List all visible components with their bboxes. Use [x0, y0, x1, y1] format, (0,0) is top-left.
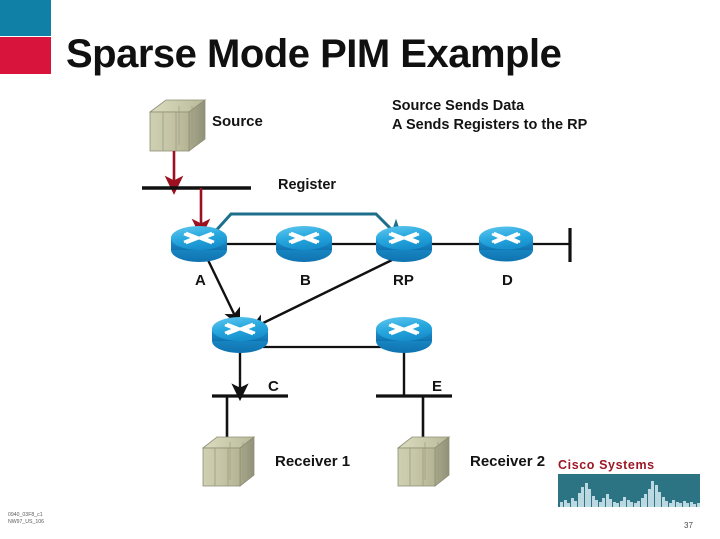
- label-source: Source: [212, 113, 263, 130]
- router-A[interactable]: [171, 226, 227, 262]
- arrow-rp-to-c: [257, 260, 392, 326]
- router-D[interactable]: [479, 227, 533, 262]
- page-number: 37: [684, 521, 693, 530]
- router-C[interactable]: [212, 317, 268, 353]
- cisco-wordmark: Cisco Systems: [558, 458, 706, 472]
- host-receiver-1: [203, 437, 254, 486]
- router-B[interactable]: [276, 226, 332, 262]
- footer-line-1: 0940_03F8_c1: [8, 512, 44, 519]
- cisco-bridge-graphic: [558, 474, 700, 507]
- label-receiver-1: Receiver 1: [275, 453, 350, 470]
- label-router-b: B: [300, 272, 311, 289]
- label-receiver-2: Receiver 2: [470, 453, 545, 470]
- footer-codes: 0940_03F8_c1 NW97_US_106: [8, 512, 44, 526]
- footer-line-2: NW97_US_106: [8, 519, 44, 526]
- host-source: [150, 100, 205, 151]
- arrow-a-to-c: [208, 260, 236, 318]
- router-E[interactable]: [376, 317, 432, 353]
- label-segment-c: C: [268, 378, 279, 395]
- router-RP[interactable]: [376, 226, 432, 262]
- host-receiver-2: [398, 437, 449, 486]
- cisco-bridge-bar: [697, 503, 700, 507]
- label-segment-e: E: [432, 378, 442, 395]
- cisco-systems-logo: Cisco Systems: [558, 458, 706, 518]
- label-register: Register: [278, 177, 336, 193]
- label-router-a: A: [195, 272, 206, 289]
- label-router-rp: RP: [393, 272, 414, 289]
- slide-canvas: Sparse Mode PIM Example Source Sends Dat…: [0, 0, 720, 539]
- label-router-d: D: [502, 272, 513, 289]
